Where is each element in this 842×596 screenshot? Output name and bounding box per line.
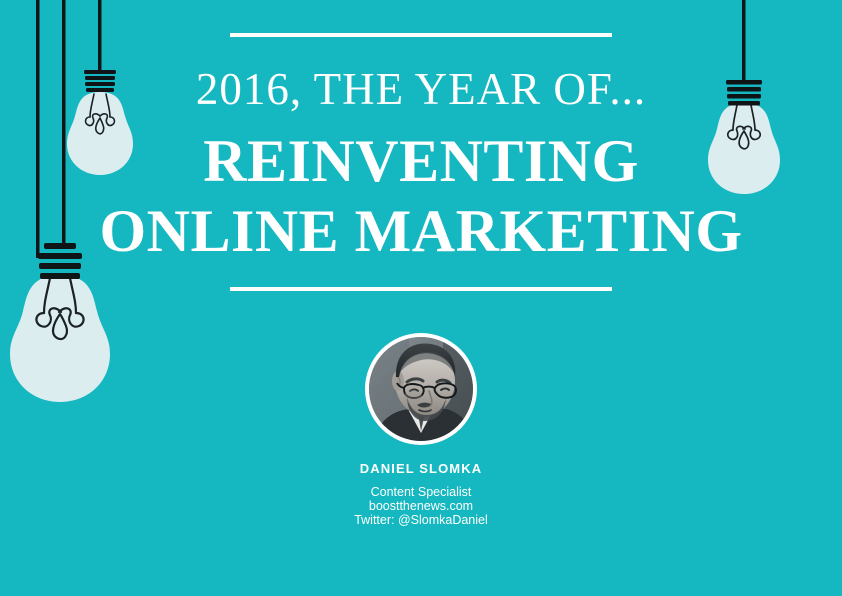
avatar (369, 337, 473, 441)
slide-subtitle: 2016, THE YEAR OF... (196, 65, 646, 113)
presentation-slide: 2016, THE YEAR OF... REINVENTING ONLINE … (0, 0, 842, 596)
slide-title: REINVENTING ONLINE MARKETING (99, 126, 742, 266)
speaker-portrait (369, 337, 473, 441)
speaker-twitter: Twitter: @SlomkaDaniel (354, 513, 488, 527)
speaker-name: DANIEL SLOMKA (360, 461, 482, 476)
title-line-1: REINVENTING (99, 126, 742, 196)
divider-top (230, 33, 612, 37)
speaker-role: Content Specialist (354, 485, 488, 499)
speaker-details: Content Specialist boostthenews.com Twit… (354, 485, 488, 527)
avatar-ring (365, 333, 477, 445)
title-line-2: ONLINE MARKETING (99, 196, 742, 266)
slide-content: 2016, THE YEAR OF... REINVENTING ONLINE … (0, 0, 842, 596)
speaker-website: boostthenews.com (354, 499, 488, 513)
divider-bottom (230, 287, 612, 291)
